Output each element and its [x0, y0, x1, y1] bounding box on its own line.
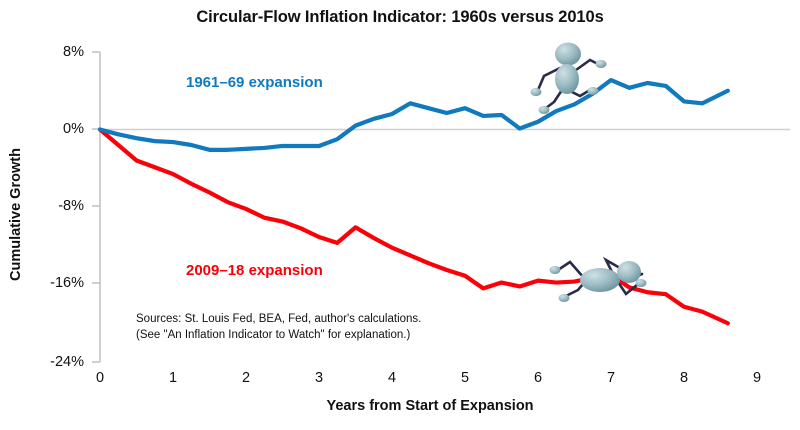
- source-note-line: Sources: St. Louis Fed, BEA, Fed, author…: [136, 312, 421, 328]
- figure-head: [617, 261, 641, 283]
- crawling-figure: [542, 248, 656, 310]
- source-notes: Sources: St. Louis Fed, BEA, Fed, author…: [136, 312, 421, 343]
- chart-container: Circular-Flow Inflation Indicator: 1960s…: [0, 0, 800, 430]
- source-note-line: (See "An Inflation Indicator to Watch" f…: [136, 328, 421, 344]
- series-label-2009-18: 2009–18 expansion: [186, 262, 323, 279]
- figure-torso: [555, 64, 579, 94]
- running-figure: [524, 38, 620, 114]
- series-label-1961-69: 1961–69 expansion: [186, 74, 323, 91]
- figure-head: [555, 43, 581, 66]
- plot-area: [0, 0, 800, 430]
- figure-torso: [580, 268, 620, 292]
